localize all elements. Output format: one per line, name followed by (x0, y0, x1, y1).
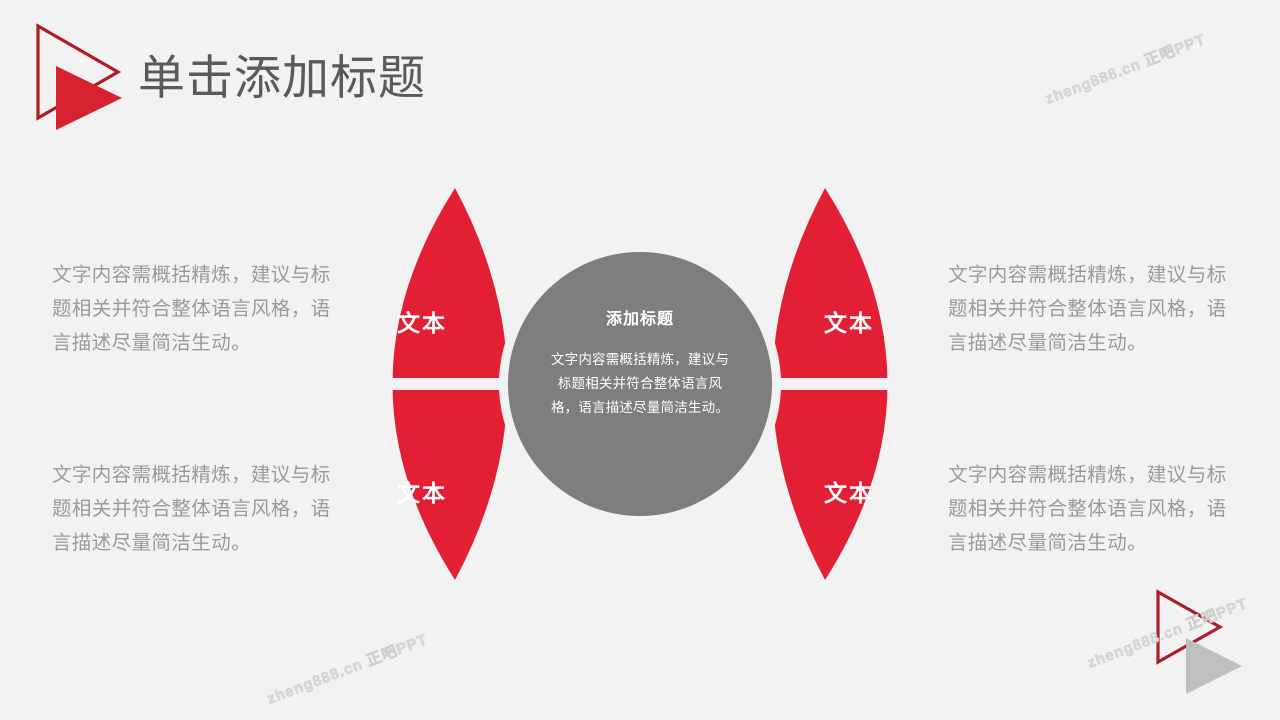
petal-bottom-right[interactable] (773, 188, 888, 580)
slide-canvas: 单击添加标题 (0, 0, 1280, 720)
side-text-top-left: 文字内容需概括精炼，建议与标题相关并符合整体语言风格，语言描述尽量简洁生动。 (52, 258, 332, 360)
petal-label-top-right: 文本 (824, 304, 874, 338)
side-text-bottom-left: 文字内容需概括精炼，建议与标题相关并符合整体语言风格，语言描述尽量简洁生动。 (52, 458, 332, 560)
petal-group-left (393, 188, 508, 580)
side-text-top-right: 文字内容需概括精炼，建议与标题相关并符合整体语言风格，语言描述尽量简洁生动。 (948, 258, 1228, 360)
center-hub-body: 文字内容需概括精炼，建议与标题相关并符合整体语言风格，语言描述尽量简洁生动。 (547, 348, 733, 420)
petal-label-bottom-right: 文本 (824, 474, 874, 508)
side-text-bottom-right: 文字内容需概括精炼，建议与标题相关并符合整体语言风格，语言描述尽量简洁生动。 (948, 458, 1228, 560)
petal-label-top-left: 文本 (397, 304, 447, 338)
petal-bottom-left[interactable] (393, 188, 508, 580)
center-hub-title: 添加标题 (606, 309, 674, 331)
petal-group-right (773, 188, 888, 580)
center-hub[interactable]: 添加标题 文字内容需概括精炼，建议与标题相关并符合整体语言风格，语言描述尽量简洁… (508, 252, 772, 516)
petal-label-bottom-left: 文本 (397, 474, 447, 508)
